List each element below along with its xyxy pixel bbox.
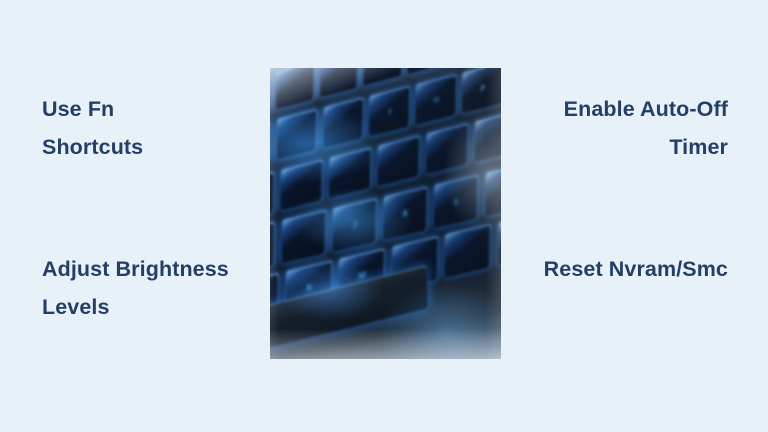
slide-canvas: Use Fn Shortcuts Enable Auto-Off Timer A… xyxy=(0,0,768,432)
label-reset-nvram-smc: Reset Nvram/Smc xyxy=(498,250,728,288)
label-adjust-brightness-levels: Adjust Brightness Levels xyxy=(42,250,257,326)
photo-edge-haze xyxy=(270,68,501,359)
keyboard-photo-inner: IOPJKLNM xyxy=(270,68,501,359)
keyboard-photo: IOPJKLNM xyxy=(270,68,501,359)
label-enable-auto-off-timer: Enable Auto-Off Timer xyxy=(498,90,728,166)
label-use-fn-shortcuts: Use Fn Shortcuts xyxy=(42,90,257,166)
